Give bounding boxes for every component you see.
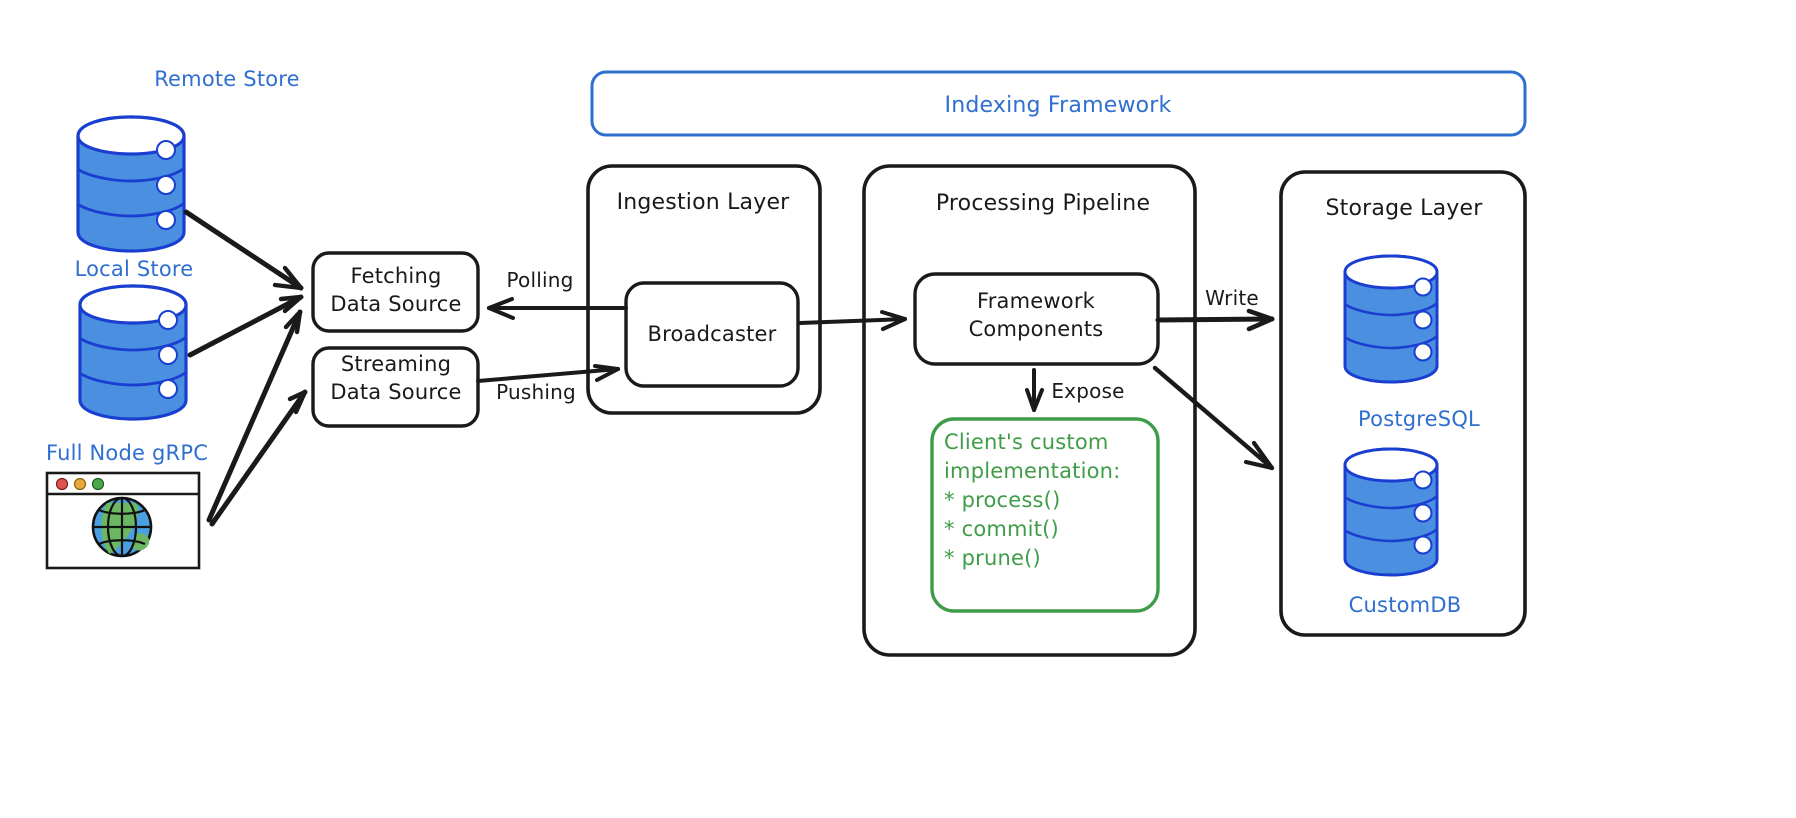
client-custom-heading-line1: Client's custom xyxy=(944,428,1109,457)
processing-pipeline-title: Processing Pipeline xyxy=(936,190,1150,218)
database-cylinder-icon-postgresql xyxy=(1345,256,1437,382)
browser-window-globe-icon xyxy=(47,473,199,568)
client-custom-item-commit: * commit() xyxy=(944,515,1059,544)
write-edge-label: Write xyxy=(1205,286,1259,311)
fetching-data-source-line1: Fetching xyxy=(350,263,441,289)
framework-components-line2: Components xyxy=(969,316,1104,342)
client-custom-item-prune: * prune() xyxy=(944,544,1041,573)
broadcaster-label: Broadcaster xyxy=(648,321,777,347)
diagram-canvas: Remote Store Local Store Full Node gRPC … xyxy=(0,0,1796,818)
diagram-vector-layer xyxy=(0,0,1796,818)
customdb-label: CustomDB xyxy=(1349,592,1462,618)
client-custom-item-process: * process() xyxy=(944,486,1060,515)
full-node-grpc-label: Full Node gRPC xyxy=(46,440,208,466)
remote-store-label: Remote Store xyxy=(154,66,300,92)
postgresql-label: PostgreSQL xyxy=(1358,406,1480,432)
source-arrows xyxy=(186,212,305,524)
local-store-label: Local Store xyxy=(75,256,194,282)
database-cylinder-icon-local-store xyxy=(80,286,186,419)
polling-edge-label: Polling xyxy=(506,268,573,293)
indexing-framework-label: Indexing Framework xyxy=(945,92,1172,120)
fetching-data-source-line2: Data Source xyxy=(330,291,461,317)
client-custom-heading-line2: implementation: xyxy=(944,457,1120,486)
framework-components-line1: Framework xyxy=(977,288,1095,314)
globe-icon xyxy=(93,498,151,556)
streaming-data-source-line1: Streaming xyxy=(341,351,451,377)
expose-edge-label: Expose xyxy=(1051,379,1124,404)
ingestion-layer-title: Ingestion Layer xyxy=(617,189,790,217)
streaming-data-source-line2: Data Source xyxy=(330,379,461,405)
storage-layer-title: Storage Layer xyxy=(1325,195,1482,223)
database-cylinder-icon-customdb xyxy=(1345,449,1437,575)
database-cylinder-icon-remote-store xyxy=(78,117,184,251)
pushing-edge-label: Pushing xyxy=(496,380,576,405)
